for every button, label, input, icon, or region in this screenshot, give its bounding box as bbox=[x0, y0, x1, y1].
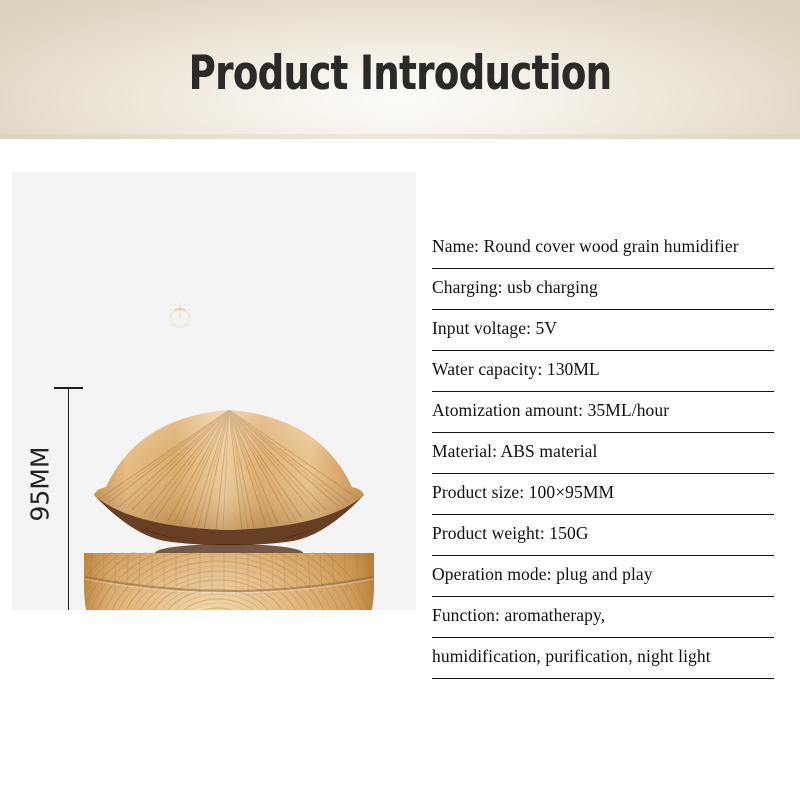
spec-text: Name: Round cover wood grain humidifier bbox=[432, 236, 739, 260]
spec-text: Input voltage: 5V bbox=[432, 318, 557, 342]
spec-row-input-voltage: Input voltage: 5V bbox=[432, 310, 774, 351]
spec-row-function: Function: aromatherapy, bbox=[432, 597, 774, 638]
spec-row-product-size: Product size: 100×95MM bbox=[432, 474, 774, 515]
product-image-panel: 95MM 100MM bbox=[12, 172, 416, 610]
page-title: Product Introduction bbox=[88, 0, 712, 139]
header-banner: Product Introduction bbox=[0, 0, 800, 139]
spec-text: Material: ABS material bbox=[432, 441, 598, 465]
spec-text: Function: aromatherapy, bbox=[432, 605, 605, 629]
product-illustration bbox=[78, 377, 380, 610]
dimension-line-vertical bbox=[68, 388, 69, 610]
spec-text: humidification, purification, night ligh… bbox=[432, 646, 711, 670]
spec-text: Operation mode: plug and play bbox=[432, 564, 653, 588]
spec-row-material: Material: ABS material bbox=[432, 433, 774, 474]
specification-list: Name: Round cover wood grain humidifier … bbox=[432, 228, 774, 679]
spec-row-water-capacity: Water capacity: 130ML bbox=[432, 351, 774, 392]
spec-row-atomization-amount: Atomization amount: 35ML/hour bbox=[432, 392, 774, 433]
power-button-icon[interactable] bbox=[166, 300, 194, 330]
spec-text: Water capacity: 130ML bbox=[432, 359, 600, 383]
spec-row-operation-mode: Operation mode: plug and play bbox=[432, 556, 774, 597]
spec-row-product-weight: Product weight: 150G bbox=[432, 515, 774, 556]
spec-row-function-continued: humidification, purification, night ligh… bbox=[432, 638, 774, 679]
spec-text: Atomization amount: 35ML/hour bbox=[432, 400, 669, 424]
spec-text: Charging: usb charging bbox=[432, 277, 598, 301]
dimension-label-height: 95MM bbox=[26, 462, 55, 522]
spec-row-name: Name: Round cover wood grain humidifier bbox=[432, 228, 774, 269]
dome-cover bbox=[94, 410, 364, 545]
spec-text: Product size: 100×95MM bbox=[432, 482, 614, 506]
spec-row-charging: Charging: usb charging bbox=[432, 269, 774, 310]
spec-text: Product weight: 150G bbox=[432, 523, 589, 547]
